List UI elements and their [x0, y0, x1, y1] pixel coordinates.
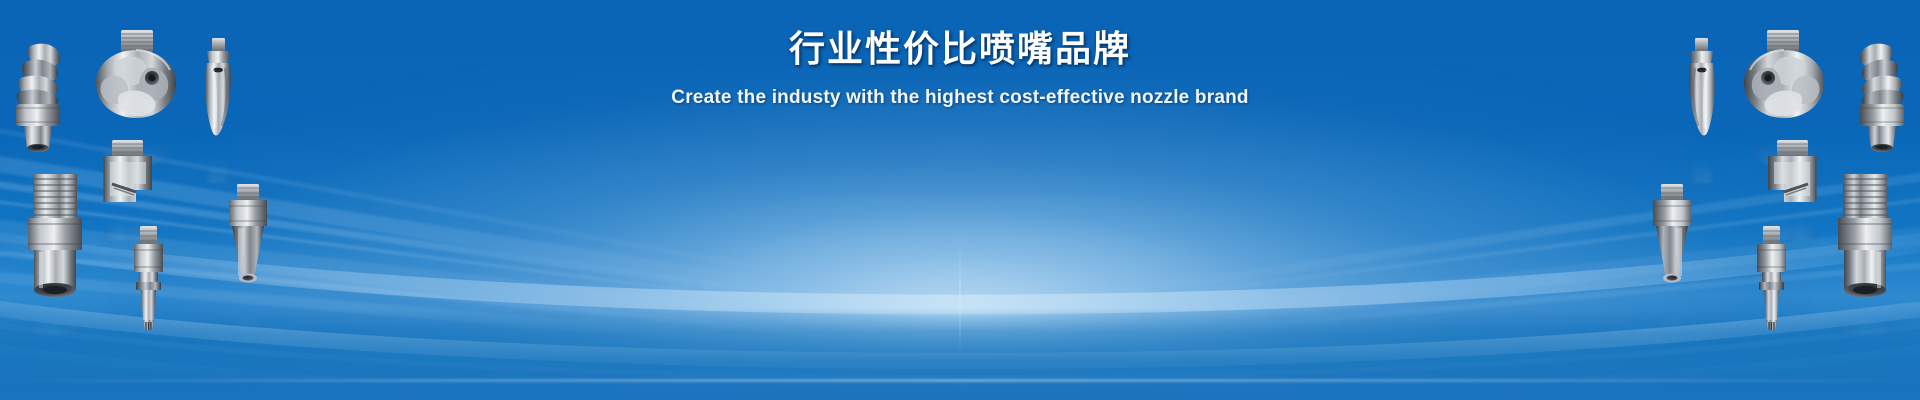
promo-banner: 行业性价比喷嘴品牌 Create the industy with the hi… — [0, 0, 1920, 400]
center-seam — [960, 236, 961, 354]
threaded-hex-full-cone-nozzle — [18, 172, 92, 300]
product-cluster-right — [1450, 0, 1920, 400]
tapered-cone-nozzle — [218, 182, 278, 296]
spiral-spray-nozzle — [4, 38, 78, 156]
spiral-spray-nozzle — [1842, 38, 1916, 156]
multi-outlet-cluster-nozzle — [1738, 28, 1830, 128]
flat-fan-nozzle — [196, 36, 240, 144]
deflector-slot-nozzle — [96, 138, 160, 210]
product-cluster-left — [0, 0, 470, 400]
fine-needle-tip-nozzle — [1748, 224, 1796, 336]
tapered-cone-nozzle — [1642, 182, 1702, 296]
threaded-hex-full-cone-nozzle — [1828, 172, 1902, 300]
deflector-slot-nozzle — [1760, 138, 1824, 210]
multi-outlet-cluster-nozzle — [90, 28, 182, 128]
flat-fan-nozzle — [1680, 36, 1724, 144]
fine-needle-tip-nozzle — [124, 224, 172, 336]
